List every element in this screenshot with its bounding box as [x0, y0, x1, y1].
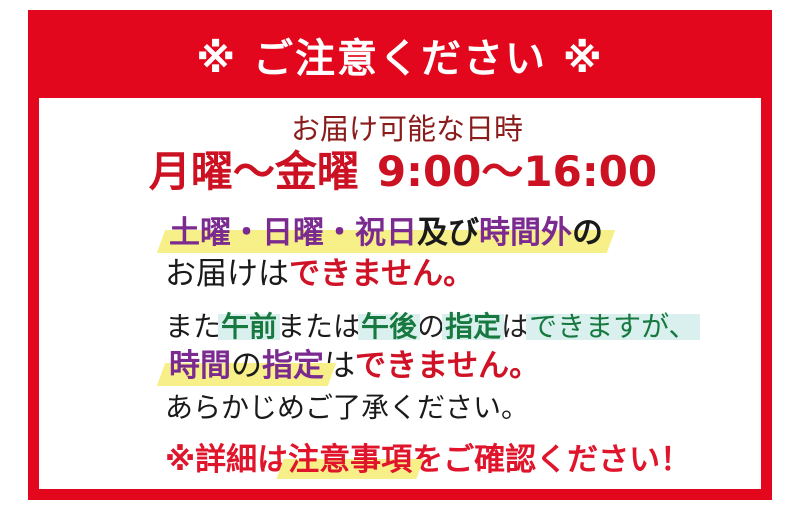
- time-spec-highlight: 時間の指定: [169, 350, 324, 383]
- line-see-details: ※詳細は注意事項をご確認ください！: [39, 444, 761, 477]
- notice-card: ※ ご注意ください ※ お届け可能な日時 月曜～金曜9:00～16:00 土曜・…: [28, 10, 772, 500]
- ampm-prefix: また: [165, 310, 221, 343]
- weekend-conj-text: 及び: [417, 215, 479, 251]
- ampm-particle-2: は: [501, 310, 529, 343]
- weekend-particle-text: の: [572, 215, 603, 251]
- after-hours-text: 時間外: [479, 215, 572, 251]
- notice-body: お届け可能な日時 月曜～金曜9:00～16:00 土曜・日曜・祝日及び時間外の …: [39, 98, 761, 486]
- line-ampm-available: また午前または午後の指定はできますが、: [39, 312, 761, 342]
- delivery-hours-days: 月曜～金曜: [149, 147, 359, 196]
- time-designation: 指定: [262, 348, 324, 384]
- no-delivery-prefix: お届けは: [165, 256, 289, 292]
- notice-header-title: ※ ご注意ください ※: [196, 39, 604, 79]
- no-delivery-emphasis: できません。: [289, 256, 474, 292]
- ampm-designation: 指定: [445, 312, 501, 342]
- detail-notes-highlight: 注意事項: [288, 444, 412, 477]
- detail-prefix: ※詳細は: [165, 442, 288, 478]
- delivery-hours: 月曜～金曜9:00～16:00: [39, 149, 761, 194]
- delivery-subtitle: お届け可能な日時: [39, 114, 761, 145]
- weekend-highlight: 土曜・日曜・祝日及び時間外の: [169, 217, 603, 250]
- time-not-possible: できません。: [355, 348, 540, 384]
- acknowledge-text: あらかじめご了承ください。: [165, 391, 529, 424]
- ampm-afternoon: 午後: [361, 312, 417, 342]
- detail-suffix: をご確認ください！: [412, 442, 691, 478]
- line-time-not-available: 時間の指定はできません。: [39, 350, 761, 383]
- line-weekend-holiday: 土曜・日曜・祝日及び時間外の: [39, 217, 761, 250]
- weekend-days-text: 土曜・日曜・祝日: [169, 215, 417, 251]
- delivery-subtitle-text: お届け可能な日時: [291, 112, 523, 146]
- notice-header-banner: ※ ご注意ください ※: [38, 20, 762, 98]
- line-acknowledge: あらかじめご了承ください。: [39, 393, 761, 423]
- time-particle-1: の: [231, 348, 262, 384]
- ampm-conj: または: [277, 310, 361, 343]
- delivery-hours-time: 9:00～16:00: [377, 147, 657, 196]
- time-word: 時間: [169, 348, 231, 384]
- detail-notes-text: 注意事項: [288, 442, 412, 478]
- ampm-particle-1: の: [417, 310, 445, 343]
- ampm-morning: 午前: [221, 312, 277, 342]
- ampm-possible: できますが、: [529, 312, 696, 342]
- line-no-delivery: お届けはできません。: [39, 258, 761, 291]
